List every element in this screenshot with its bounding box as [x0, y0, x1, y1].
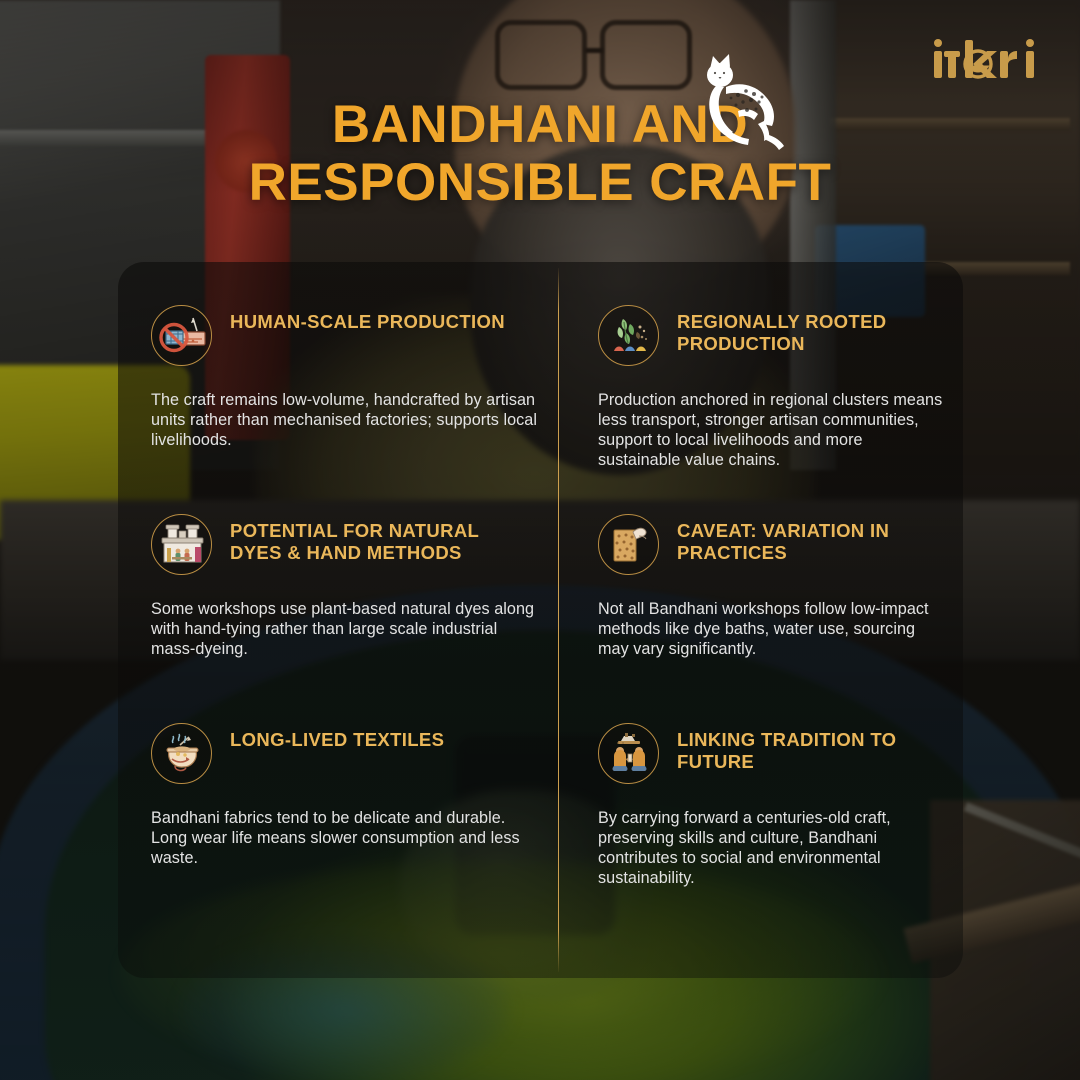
card-body: By carrying forward a centuries-old craf… [598, 808, 949, 888]
card-title: LONG-LIVED TEXTILES [230, 723, 444, 751]
card-title: POTENTIAL FOR NATURAL DYES & HAND METHOD… [230, 514, 530, 564]
hand-holding-patterned-fabric-icon [598, 514, 659, 575]
page-title-line2: RESPONSIBLE CRAFT [249, 153, 832, 212]
card-header: LONG-LIVED TEXTILES [151, 723, 538, 784]
card-header: HUMAN-SCALE PRODUCTION [151, 305, 538, 366]
benefit-card-potential-for-natural-dyes[interactable]: POTENTIAL FOR NATURAL DYES & HAND METHOD… [118, 471, 558, 680]
card-body: The craft remains low-volume, handcrafte… [151, 390, 538, 450]
card-body: Not all Bandhani workshops follow low-im… [598, 599, 949, 659]
card-title: LINKING TRADITION TO FUTURE [677, 723, 949, 773]
benefit-card-linking-tradition-to-future[interactable]: LINKING TRADITION TO FUTURE By carrying … [558, 680, 963, 912]
steaming-dye-pot-icon [151, 723, 212, 784]
card-body: Production anchored in regional clusters… [598, 390, 949, 470]
card-title: HUMAN-SCALE PRODUCTION [230, 305, 505, 333]
benefit-card-regionally-rooted-production[interactable]: REGIONALLY ROOTED PRODUCTION Production … [558, 262, 963, 471]
card-body: Some workshops use plant-based natural d… [151, 599, 538, 659]
card-title: CAVEAT: VARIATION IN PRACTICES [677, 514, 949, 564]
leaves-and-dye-powders-icon [598, 305, 659, 366]
card-header: LINKING TRADITION TO FUTURE [598, 723, 949, 784]
card-header: REGIONALLY ROOTED PRODUCTION [598, 305, 949, 366]
page-title: BANDHANI AND RESPONSIBLE CRAFT [0, 96, 1080, 212]
cat-mascot-icon [686, 53, 806, 153]
two-artisans-seated-icon [598, 723, 659, 784]
artisan-workshop-building-icon [151, 514, 212, 575]
card-header: POTENTIAL FOR NATURAL DYES & HAND METHOD… [151, 514, 538, 575]
no-factory-machine-icon [151, 305, 212, 366]
benefit-card-long-lived-textiles[interactable]: LONG-LIVED TEXTILES Bandhani fabrics ten… [118, 680, 558, 912]
itokri-logo[interactable] [932, 40, 1044, 84]
benefits-grid: HUMAN-SCALE PRODUCTION The craft remains… [118, 262, 963, 978]
card-body: Bandhani fabrics tend to be delicate and… [151, 808, 538, 868]
card-header: CAVEAT: VARIATION IN PRACTICES [598, 514, 949, 575]
benefit-card-human-scale-production[interactable]: HUMAN-SCALE PRODUCTION The craft remains… [118, 262, 558, 471]
card-title: REGIONALLY ROOTED PRODUCTION [677, 305, 949, 355]
itokri-wordmark-icon [932, 39, 1044, 85]
benefit-card-caveat-variation-in-practices[interactable]: CAVEAT: VARIATION IN PRACTICES Not all B… [558, 471, 963, 680]
